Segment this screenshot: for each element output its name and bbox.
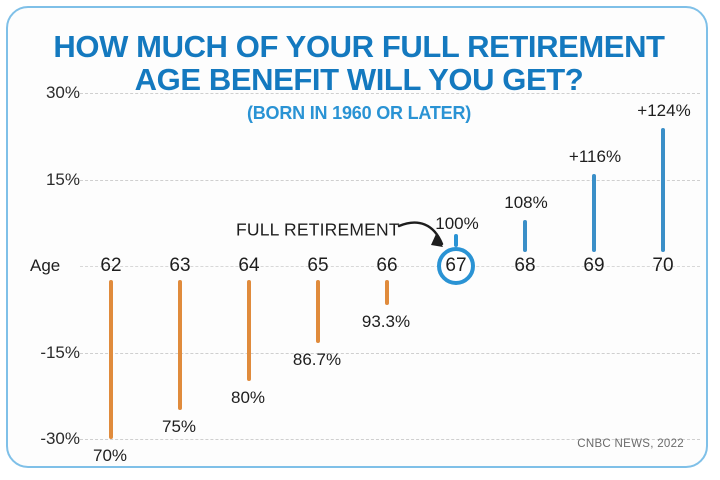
bar-age-64[interactable] (247, 280, 251, 381)
age-label-67: 67 (445, 255, 466, 277)
value-label-age-65: 86.7% (293, 350, 341, 370)
value-label-age-69: +116% (569, 147, 621, 167)
age-label-66: 66 (376, 255, 397, 277)
value-label-age-68: 108% (504, 193, 547, 213)
gridline (80, 353, 700, 354)
bar-age-65[interactable] (316, 280, 320, 343)
value-label-age-62: 70% (93, 446, 127, 466)
bar-age-69[interactable] (592, 174, 596, 252)
y-axis-tick: -30% (18, 429, 80, 449)
age-label-62: 62 (100, 255, 121, 277)
age-label-70: 70 (652, 255, 673, 277)
bar-age-70[interactable] (661, 128, 665, 252)
full-retirement-annotation: FULL RETIREMENT (236, 220, 400, 241)
y-axis-tick: 15% (18, 170, 80, 190)
value-label-age-66: 93.3% (362, 312, 410, 332)
age-label-69: 69 (583, 255, 604, 277)
annotation-arrow-icon (396, 214, 466, 260)
bar-age-62[interactable] (109, 280, 113, 439)
infographic-card: HOW MUCH OF YOUR FULL RETIREMENT AGE BEN… (6, 6, 708, 468)
value-label-age-64: 80% (231, 388, 265, 408)
value-label-age-63: 75% (162, 417, 196, 437)
y-axis-tick: -15% (18, 343, 80, 363)
gridline (80, 180, 700, 181)
gridline (80, 93, 700, 94)
age-label-64: 64 (238, 255, 259, 277)
y-axis-tick: 30% (18, 83, 80, 103)
axis-label-age: Age (30, 256, 60, 276)
age-label-65: 65 (307, 255, 328, 277)
bar-age-66[interactable] (385, 280, 389, 305)
age-label-68: 68 (514, 255, 535, 277)
source-attribution: CNBC NEWS, 2022 (577, 438, 684, 450)
bar-age-68[interactable] (523, 220, 527, 252)
value-label-age-70: +124% (637, 101, 690, 121)
age-label-63: 63 (169, 255, 190, 277)
bar-age-63[interactable] (178, 280, 182, 410)
